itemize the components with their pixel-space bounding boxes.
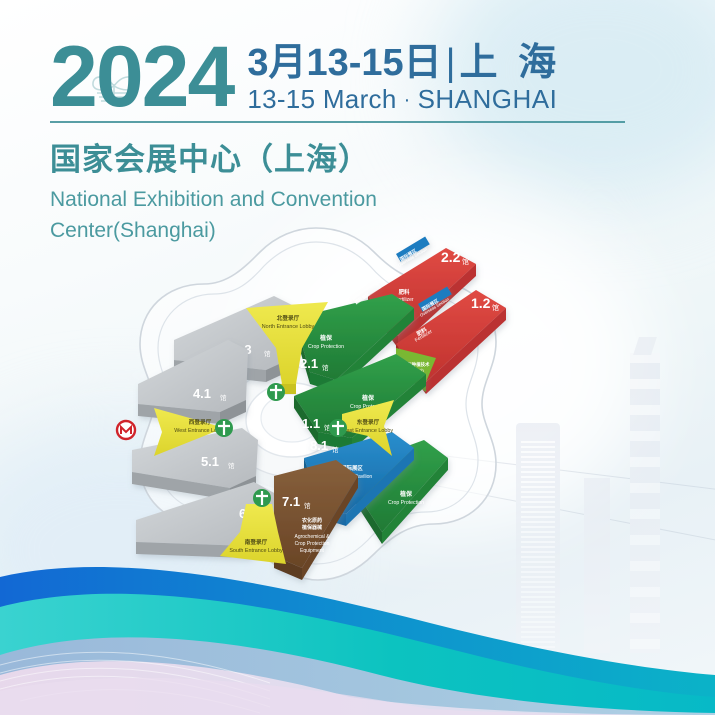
year-text: 2024: [50, 29, 233, 125]
hall-2-2-unit: 馆: [462, 257, 469, 266]
lobby-east-label-cn: 东登录厅: [357, 418, 380, 426]
date-en-dot: ·: [404, 89, 411, 111]
service-point-icon-north[interactable]: [267, 383, 285, 401]
hall-8-1-unit: 馆: [332, 445, 339, 454]
lobby-north-label-cn: 北登录厅: [277, 314, 300, 322]
hall-1-2-unit: 馆: [492, 303, 499, 312]
venue-en-line1: National Exhibition and Convention: [50, 188, 377, 211]
hall-1-2-number: 1.2: [471, 295, 491, 311]
date-cn-month: 3月13-15日: [247, 42, 441, 84]
lobby-west-label-cn: 西登录厅: [189, 418, 212, 426]
header-divider: [50, 121, 625, 123]
hall-3-unit: 馆: [264, 349, 271, 358]
hall-8-1-number: 8.1: [310, 438, 328, 453]
metro-logo-icon[interactable]: [117, 421, 135, 439]
poster-canvas: 2024 3月13-15日|上 海 13-: [0, 0, 715, 715]
hall-5-1-unit: 馆: [228, 461, 235, 470]
year-logo: 2024: [50, 38, 233, 117]
lobby-north-label-en: North Entrance Lobby: [262, 324, 315, 330]
hall-2-1-zone-en: Crop Protection: [308, 344, 344, 350]
date-block: 3月13-15日|上 海 13-15 March·SHANGHAI: [247, 38, 561, 115]
hall-2-1-zone-cn: 植保: [319, 334, 333, 342]
venue-name-chinese: 国家会展中心（上海）: [50, 134, 625, 179]
hall-7-1-number: 7.1: [282, 494, 300, 509]
hall-4-1-unit: 馆: [220, 393, 227, 402]
hall-2-1-number: 2.1: [300, 356, 318, 371]
hall-2-2-number: 2.2: [441, 249, 461, 265]
hall-1-1-number: 1.1: [302, 416, 320, 431]
bottom-wave-decoration: [0, 515, 715, 715]
date-en-city: SHANGHAI: [418, 84, 558, 114]
hall-4-1-number: 4.1: [193, 386, 211, 401]
hall-8-1-green-zone-en: Crop Protection: [388, 500, 424, 506]
service-point-icon-east[interactable]: [329, 419, 347, 437]
lobby-east-label-en: East Entrance Lobby: [343, 428, 393, 434]
date-cn-city: 上 海: [460, 42, 562, 84]
date-cn-separator: |: [446, 42, 456, 84]
hall-5-1-number: 5.1: [201, 454, 219, 469]
hall-1-1-zone-cn: 植保: [361, 394, 375, 402]
date-english: 13-15 March·SHANGHAI: [247, 84, 561, 115]
hall-2-2-zone-cn: 肥料: [399, 288, 410, 296]
date-en-range: 13-15 March: [247, 84, 396, 114]
hall-8-1-green-zone-cn: 植保: [399, 490, 413, 498]
logo-row: 2024 3月13-15日|上 海 13-: [50, 38, 625, 117]
service-point-icon-west[interactable]: [215, 419, 233, 437]
hall-7-1-unit: 馆: [304, 501, 311, 510]
date-chinese: 3月13-15日|上 海: [247, 44, 561, 84]
poster-header: 2024 3月13-15日|上 海 13-: [50, 38, 625, 246]
service-point-icon-south[interactable]: [253, 489, 271, 507]
hall-2-1-unit: 馆: [322, 363, 329, 372]
